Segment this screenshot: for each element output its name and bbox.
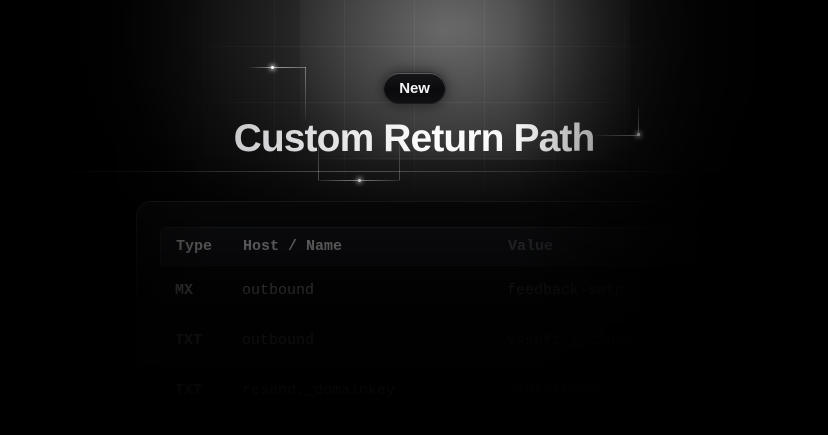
background-vignette — [0, 0, 828, 435]
hero-banner: New Custom Return Path Type Host / Name … — [0, 0, 828, 435]
